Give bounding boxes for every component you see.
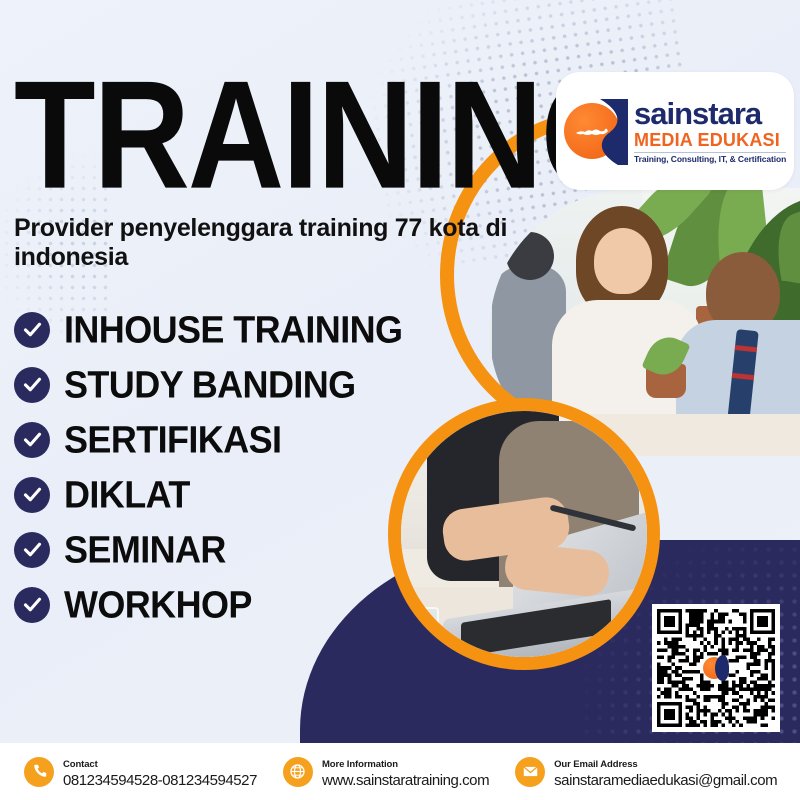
logo-name: sainstara bbox=[634, 98, 786, 129]
page-title: TRAINING bbox=[14, 62, 643, 210]
list-item: INHOUSE TRAINING bbox=[14, 306, 402, 353]
poster-canvas: TRAINING Provider penyelenggara training… bbox=[0, 0, 800, 800]
check-circle-icon bbox=[14, 477, 50, 513]
logo-tagline: Training, Consulting, IT, & Certificatio… bbox=[634, 152, 786, 164]
logo-subtitle: MEDIA EDUKASI bbox=[634, 131, 786, 149]
footer-item-value: 081234594528-081234594527 bbox=[63, 772, 257, 789]
phone-icon bbox=[24, 757, 54, 787]
wave-swoosh-icon bbox=[590, 99, 628, 165]
list-item: STUDY BANDING bbox=[14, 361, 402, 408]
contact-footer: Contact 081234594528-081234594527 More I… bbox=[0, 743, 800, 800]
laptop-pointing-photo bbox=[388, 398, 660, 670]
check-circle-icon bbox=[14, 312, 50, 348]
sainstara-emblem-icon bbox=[564, 99, 628, 163]
brand-logo: sainstara MEDIA EDUKASI Training, Consul… bbox=[556, 72, 794, 190]
check-circle-icon bbox=[14, 532, 50, 568]
footer-email-item[interactable]: Our Email Address sainstaramediaedukasi@… bbox=[515, 754, 777, 790]
check-circle-icon bbox=[14, 422, 50, 458]
check-circle-icon bbox=[14, 367, 50, 403]
email-icon bbox=[515, 757, 545, 787]
footer-item-title: Contact bbox=[63, 759, 98, 770]
footer-contact-item[interactable]: Contact 081234594528-081234594527 bbox=[24, 754, 257, 790]
footer-item-title: More Information bbox=[322, 759, 398, 770]
list-item: DIKLAT bbox=[14, 471, 402, 518]
footer-item-value: www.sainstaratraining.com bbox=[322, 772, 489, 789]
list-item: SERTIFIKASI bbox=[14, 416, 402, 463]
sainstara-emblem-icon bbox=[703, 655, 729, 681]
service-label: WORKHOP bbox=[64, 582, 252, 627]
service-label: SEMINAR bbox=[64, 527, 226, 572]
list-item: SEMINAR bbox=[14, 526, 402, 573]
footer-website-item[interactable]: More Information www.sainstaratraining.c… bbox=[283, 754, 489, 790]
qr-code[interactable] bbox=[652, 604, 780, 732]
service-label: STUDY BANDING bbox=[64, 362, 356, 407]
service-label: INHOUSE TRAINING bbox=[64, 307, 402, 352]
page-subtitle: Provider penyelenggara training 77 kota … bbox=[14, 214, 514, 272]
check-circle-icon bbox=[14, 587, 50, 623]
services-list: INHOUSE TRAINING STUDY BANDING SERTIFIKA… bbox=[14, 306, 402, 628]
globe-icon bbox=[283, 757, 313, 787]
service-label: DIKLAT bbox=[64, 472, 190, 517]
service-label: SERTIFIKASI bbox=[64, 417, 281, 462]
footer-item-value: sainstaramediaedukasi@gmail.com bbox=[554, 772, 777, 789]
footer-item-title: Our Email Address bbox=[554, 759, 637, 770]
list-item: WORKHOP bbox=[14, 581, 402, 628]
